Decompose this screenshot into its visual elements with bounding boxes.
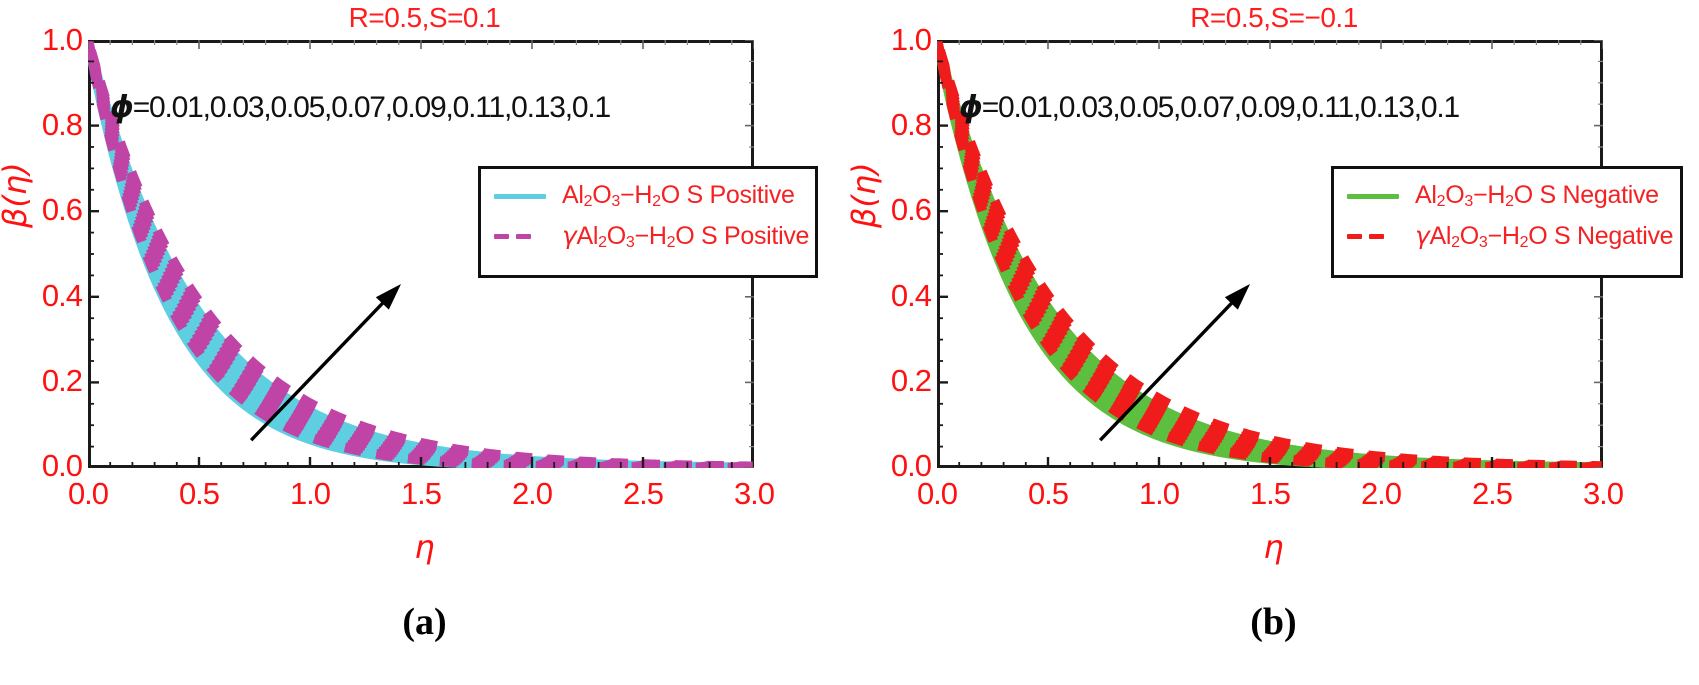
legend-entry-1[interactable]: Al2O3−H2O S Negative (1345, 176, 1667, 216)
y-tick-label: 0.4 (891, 280, 931, 311)
y-tick-label: 0.6 (891, 194, 931, 225)
panel-a-x-axis-ticks: 0.0 0.5 1.0 1.5 2.0 2.5 3.0 (88, 472, 754, 518)
x-tick-label: 2.5 (603, 478, 683, 509)
panel-a: R=0.5,S=0.1 1.0 0.8 0.6 0.4 0.2 0.0 β(η)… (0, 0, 849, 685)
panel-a-y-axis-ticks: 1.0 0.8 0.6 0.4 0.2 0.0 (10, 40, 82, 468)
x-tick-label: 2.0 (1341, 478, 1421, 509)
y-tick-label: 0.4 (42, 280, 82, 311)
legend-dashed-line-swatch (1345, 227, 1401, 245)
panel-b-caption: (b) (849, 600, 1698, 644)
phi-values: =0.01,0.03,0.05,0.07,0.09,0.11,0.13,0.1 (982, 91, 1459, 124)
legend-solid-line-swatch (1345, 187, 1401, 205)
y-tick-label: 1.0 (891, 24, 931, 55)
legend-entry-2[interactable]: γAl2O3−H2O S Negative (1345, 216, 1667, 256)
panel-a-x-axis-label: η (0, 528, 849, 566)
legend-solid-line-swatch (492, 187, 548, 205)
x-tick-label: 3.0 (714, 478, 794, 509)
panel-b-plot-area: ϕ=0.01,0.03,0.05,0.07,0.09,0.11,0.13,0.1… (937, 40, 1603, 468)
x-tick-label: 3.0 (1563, 478, 1643, 509)
x-tick-label: 0.5 (159, 478, 239, 509)
panel-b-x-axis-label: η (849, 528, 1698, 566)
panel-b-title: R=0.5,S=−0.1 (849, 2, 1699, 34)
legend-entry-label: Al2O3−H2O S Positive (562, 181, 795, 211)
y-tick-label: 0.8 (42, 109, 82, 140)
legend-entry-label: Al2O3−H2O S Negative (1415, 181, 1659, 211)
panel-a-phi-annotation: ϕ=0.01,0.03,0.05,0.07,0.09,0.11,0.13,0.1 (110, 90, 610, 125)
y-tick-label: 0.2 (891, 365, 931, 396)
x-tick-label: 0.0 (48, 478, 128, 509)
x-tick-label: 1.5 (1230, 478, 1310, 509)
panel-a-legend[interactable]: Al2O3−H2O S PositiveγAl2O3−H2O S Positiv… (478, 166, 818, 278)
phi-values: =0.01,0.03,0.05,0.07,0.09,0.11,0.13,0.1 (133, 91, 610, 124)
panel-b-y-axis-label: β(η) (845, 162, 883, 228)
panel-a-y-axis-label: β(η) (0, 162, 34, 228)
x-tick-label: 1.0 (270, 478, 350, 509)
phi-symbol: ϕ (959, 90, 982, 125)
panel-b-x-axis-ticks: 0.0 0.5 1.0 1.5 2.0 2.5 3.0 (937, 472, 1603, 518)
legend-entry-label: γAl2O3−H2O S Negative (1415, 221, 1673, 252)
y-tick-label: 0.2 (42, 365, 82, 396)
phi-symbol: ϕ (110, 90, 133, 125)
legend-dashed-line-swatch (492, 227, 548, 245)
y-tick-label: 1.0 (42, 24, 82, 55)
panel-b-legend[interactable]: Al2O3−H2O S NegativeγAl2O3−H2O S Negativ… (1331, 166, 1683, 278)
panel-b-y-axis-ticks: 1.0 0.8 0.6 0.4 0.2 0.0 (859, 40, 931, 468)
x-tick-label: 1.5 (381, 478, 461, 509)
x-tick-label: 2.5 (1452, 478, 1532, 509)
y-tick-label: 0.6 (42, 194, 82, 225)
panel-b-phi-annotation: ϕ=0.01,0.03,0.05,0.07,0.09,0.11,0.13,0.1 (959, 90, 1459, 125)
x-tick-label: 0.5 (1008, 478, 1088, 509)
x-tick-label: 0.0 (897, 478, 977, 509)
panel-b: R=0.5,S=−0.1 1.0 0.8 0.6 0.4 0.2 0.0 β(η… (849, 0, 1699, 685)
panel-a-caption: (a) (0, 600, 849, 644)
x-tick-label: 2.0 (492, 478, 572, 509)
panel-a-title: R=0.5,S=0.1 (0, 2, 849, 34)
legend-entry-1[interactable]: Al2O3−H2O S Positive (492, 176, 802, 216)
panel-a-plot-area: ϕ=0.01,0.03,0.05,0.07,0.09,0.11,0.13,0.1… (88, 40, 754, 468)
legend-entry-label: γAl2O3−H2O S Positive (562, 221, 809, 252)
x-tick-label: 1.0 (1119, 478, 1199, 509)
legend-entry-2[interactable]: γAl2O3−H2O S Positive (492, 216, 802, 256)
figure-two-panel-chart: R=0.5,S=0.1 1.0 0.8 0.6 0.4 0.2 0.0 β(η)… (0, 0, 1699, 685)
y-tick-label: 0.8 (891, 109, 931, 140)
